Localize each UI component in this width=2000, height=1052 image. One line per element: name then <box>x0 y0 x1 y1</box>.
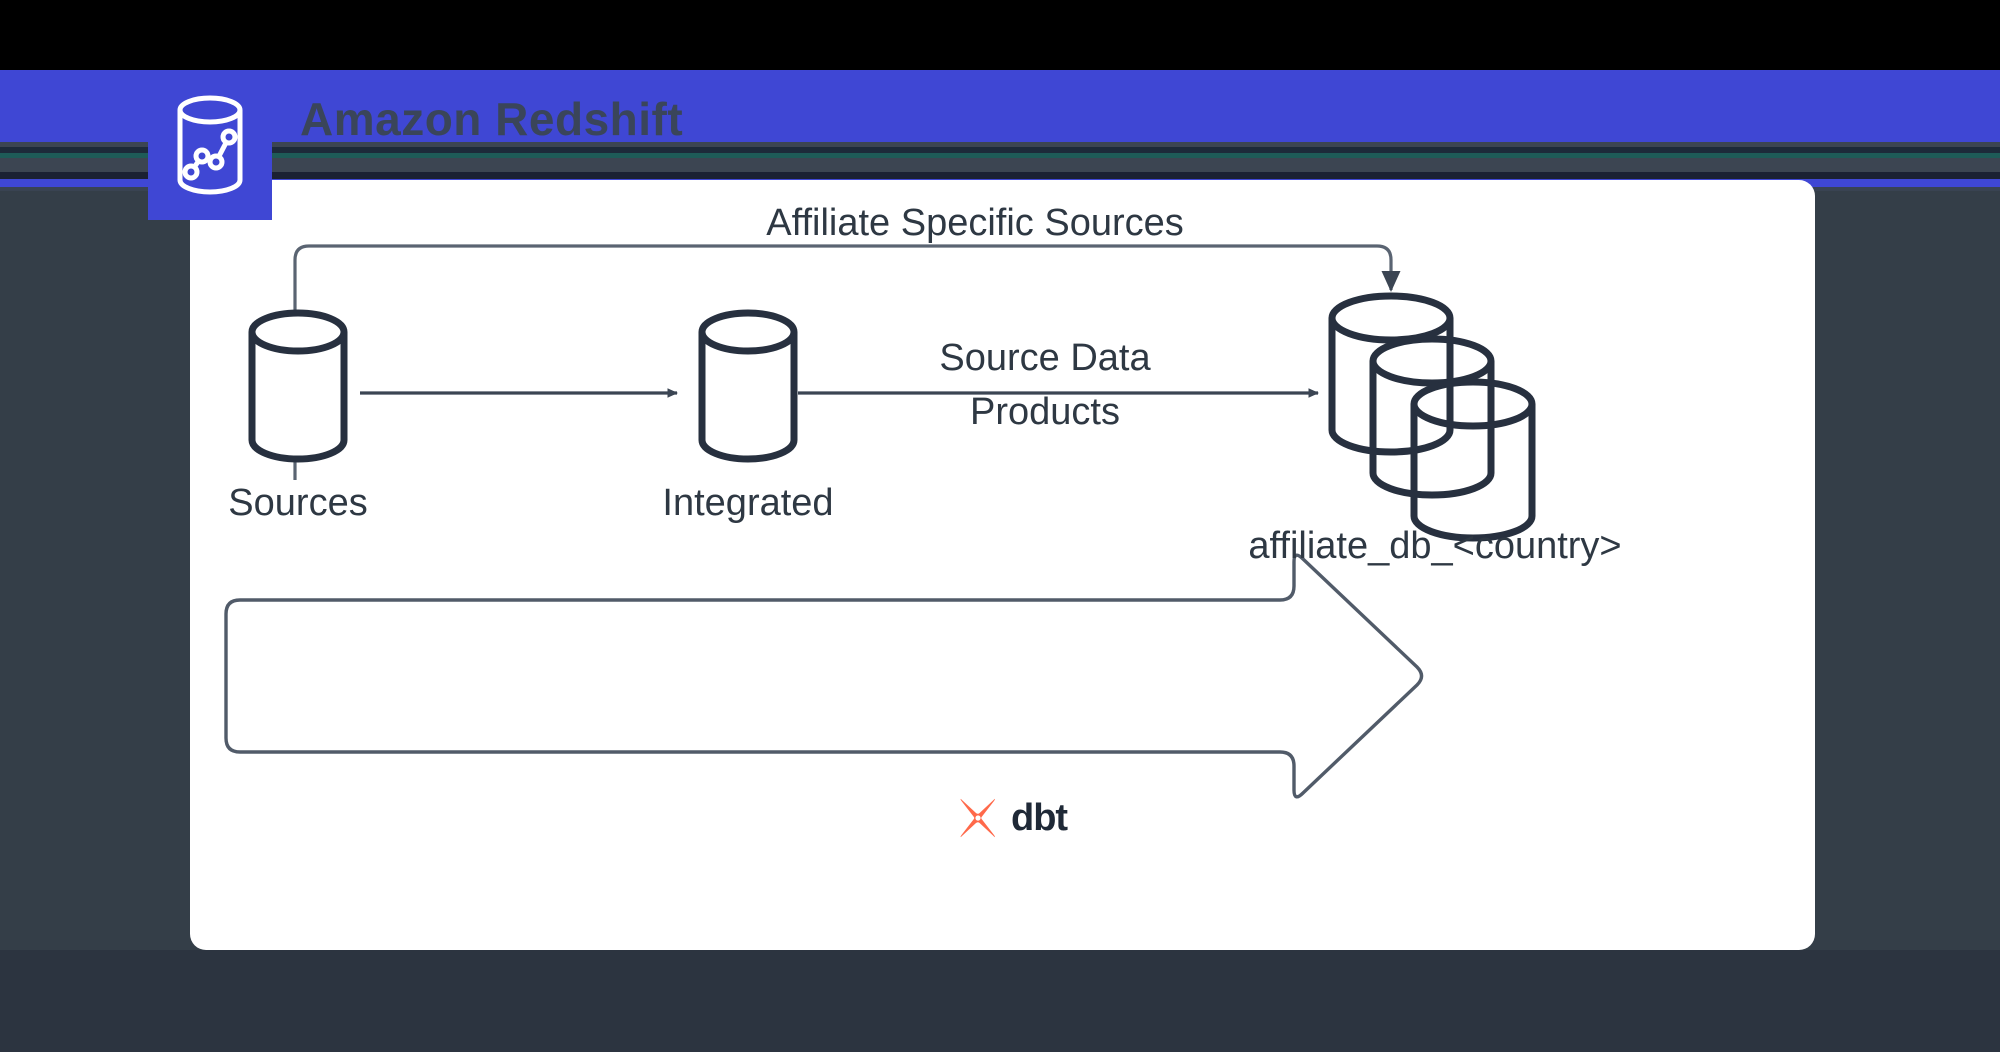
dbt-logo: dbt <box>955 795 1067 841</box>
edge-sources-affiliate <box>295 246 1391 480</box>
node-label-affiliate-db: affiliate_db_<country> <box>1248 525 1621 567</box>
node-integrated[interactable] <box>702 313 794 459</box>
letterbox-top <box>0 0 2000 70</box>
band-stripe <box>0 158 2000 172</box>
edge-label-source-data: Source Data <box>939 337 1151 379</box>
node-sources[interactable] <box>252 313 344 459</box>
node-label-sources: Sources <box>228 482 367 524</box>
amazon-redshift-badge <box>148 70 272 220</box>
node-label-integrated: Integrated <box>662 482 833 524</box>
database-chart-icon <box>172 92 248 198</box>
screenshot-stage: Amazon Redshift <box>0 0 2000 1052</box>
cylinder-front <box>1414 382 1532 538</box>
edge-label-affiliate-specific-sources: Affiliate Specific Sources <box>766 202 1184 244</box>
dbt-banner[interactable] <box>226 555 1422 797</box>
page-backdrop-lower <box>0 950 2000 1052</box>
dbt-wordmark: dbt <box>1011 797 1067 840</box>
edge-label-products: Products <box>970 391 1120 433</box>
node-affiliate-db-stack[interactable] <box>1332 296 1532 538</box>
page-title: Amazon Redshift <box>300 92 683 146</box>
dbt-logo-icon <box>955 795 1001 841</box>
band-stripe <box>0 172 2000 179</box>
